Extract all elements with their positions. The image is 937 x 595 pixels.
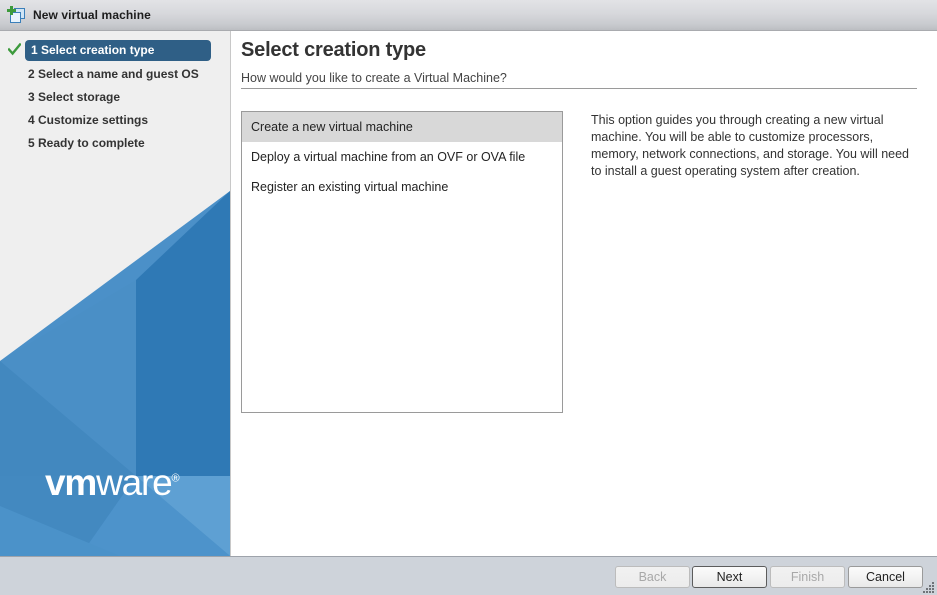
new-virtual-machine-dialog: New virtual machine vmware® (0, 0, 937, 595)
list-item-create-new-vm[interactable]: Create a new virtual machine (242, 112, 562, 142)
resize-grip-icon[interactable] (922, 581, 935, 594)
back-button[interactable]: Back (615, 566, 690, 588)
wizard-content-pane: Select creation type How would you like … (230, 31, 937, 556)
cancel-button[interactable]: Cancel (848, 566, 923, 588)
wizard-step-list: 1 Select creation type 2 Select a name a… (0, 40, 230, 156)
page-subtitle: How would you like to create a Virtual M… (241, 71, 507, 85)
window-titlebar: New virtual machine (0, 0, 937, 31)
creation-type-list[interactable]: Create a new virtual machine Deploy a vi… (241, 111, 563, 413)
sidebar-item-label: 2 Select a name and guest OS (28, 64, 199, 85)
sidebar-item-select-name-and-guest-os[interactable]: 2 Select a name and guest OS (0, 64, 230, 85)
sidebar-item-label: 4 Customize settings (28, 110, 148, 131)
vmware-logo-light: ware (96, 462, 171, 503)
list-item-register-existing-vm[interactable]: Register an existing virtual machine (242, 172, 562, 202)
page-title: Select creation type (241, 39, 426, 62)
sidebar-item-ready-to-complete[interactable]: 5 Ready to complete (0, 133, 230, 154)
new-virtual-machine-icon (7, 6, 27, 24)
sidebar-item-label: 3 Select storage (28, 87, 120, 108)
sidebar-item-label: 5 Ready to complete (28, 133, 145, 154)
dialog-footer: Back Next Finish Cancel (0, 556, 937, 595)
option-description: This option guides you through creating … (591, 112, 913, 180)
vmware-logo-bold: vm (45, 462, 96, 503)
finish-button[interactable]: Finish (770, 566, 845, 588)
wizard-sidebar: vmware® 1 Select creation type 2 Select … (0, 31, 230, 556)
next-button[interactable]: Next (692, 566, 767, 588)
header-divider (241, 88, 917, 89)
sidebar-item-select-creation-type[interactable]: 1 Select creation type (0, 40, 230, 61)
window-title: New virtual machine (33, 8, 151, 22)
sidebar-item-customize-settings[interactable]: 4 Customize settings (0, 110, 230, 131)
vmware-logo: vmware® (45, 464, 180, 501)
checkmark-icon (8, 43, 21, 56)
registered-trademark-icon: ® (171, 473, 179, 485)
sidebar-item-label: 1 Select creation type (31, 40, 154, 61)
list-item-deploy-from-ovf-ova[interactable]: Deploy a virtual machine from an OVF or … (242, 142, 562, 172)
sidebar-item-select-storage[interactable]: 3 Select storage (0, 87, 230, 108)
